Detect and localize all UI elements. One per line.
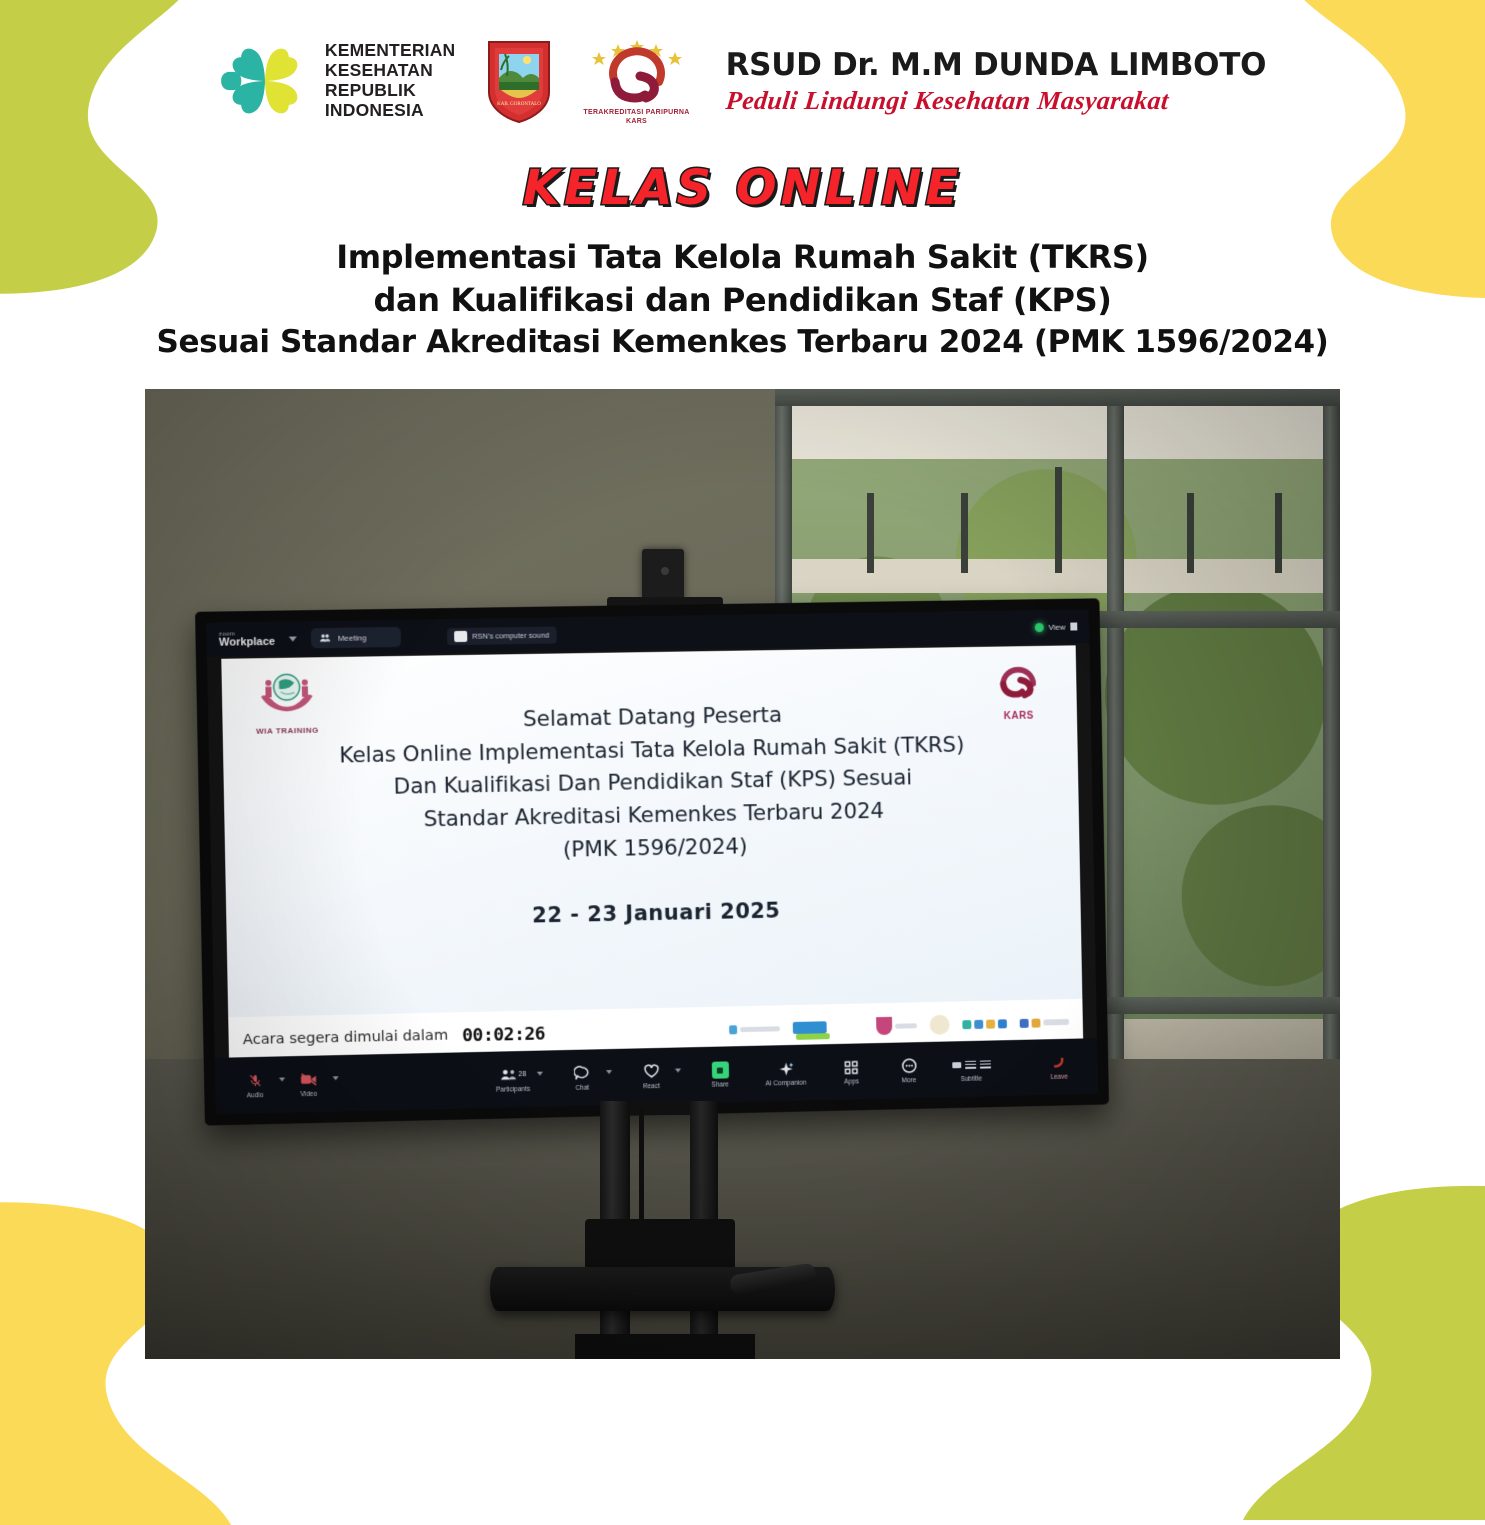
slide-kars-label: KARS [978,710,1059,722]
poster-subtitle: Implementasi Tata Kelola Rumah Sakit (TK… [0,236,1485,363]
zoom-ai-companion-label: AI Companion [765,1080,806,1088]
zoom-subtitle-label: Subtitle [961,1076,983,1083]
partner-logo-strip [729,1009,1069,1042]
zoom-meeting-label: Meeting [338,633,367,642]
zoom-participants-button[interactable]: 28 Participants [492,1065,535,1094]
zoom-more-label: More [902,1077,917,1084]
zoom-ai-companion-button[interactable]: AI Companion [757,1059,815,1088]
slide-event-date: 22 - 23 Januari 2025 [226,893,1081,934]
gorontalo-regency-seal: KAB. GORONTALO [483,38,555,124]
partner-logo-6 [1019,1009,1069,1036]
window-rail-top [775,389,1340,406]
zoom-brand-big: Workplace [219,637,275,649]
kemenkes-logo [219,39,311,123]
camera-icon [300,1070,318,1089]
kars-logo [585,36,689,108]
microphone-icon [248,1071,262,1090]
partner-logo-5 [962,1011,1007,1038]
tv-display: zoom Workplace Meeting RSN's computer so… [195,599,1109,1126]
wia-training-logo-block: WIA TRAINING [238,667,336,736]
zoom-participants-label: Participants [496,1086,530,1094]
zoom-chat-button[interactable]: Chat [561,1064,604,1093]
countdown-label: Acara segera dimulai dalam [243,1028,448,1049]
kemenkes-line3: REPUBLIK [325,81,456,101]
participants-caret-icon[interactable] [537,1072,543,1076]
screen-share-icon [454,631,467,642]
grid-view-icon [1070,623,1077,631]
kars-logo [990,656,1046,705]
window-grille-1 [867,493,874,573]
subtitle-icon [952,1055,991,1075]
participants-count: 28 [518,1071,526,1078]
people-icon [319,632,331,644]
zoom-audio-label: Audio [247,1092,264,1099]
toolbar-gap-left [341,1080,492,1083]
zoom-video-label: Video [300,1091,317,1098]
more-ellipsis-icon [900,1056,917,1075]
kars-accreditation-logo-block: TERAKREDITASI PARIPURNA KARS [583,36,689,127]
leave-meeting-icon [1051,1053,1067,1072]
hospital-tagline: Peduli Lindungi Kesehatan Masyarakat [724,86,1268,116]
partner-logo-2 [793,1014,864,1041]
heart-icon [642,1062,659,1081]
zoom-view-label: View [1048,622,1065,631]
kemenkes-logo-block: KEMENTERIAN KESEHATAN REPUBLIK INDONESIA [219,39,456,123]
apps-grid-icon [843,1058,859,1077]
partner-logo-1 [729,1016,780,1043]
poster-subtitle-line2: dan Kualifikasi dan Pendidikan Staf (KPS… [0,279,1485,322]
zoom-subtitle-button[interactable]: Subtitle [945,1055,997,1084]
slide-text-block: Selamat Datang Peserta Kelas Online Impl… [221,646,1081,935]
zoom-sound-label: RSN's computer sound [472,630,549,640]
window-grille-4 [1187,493,1194,573]
zoom-leave-button[interactable]: Leave [1038,1053,1080,1082]
zoom-chat-label: Chat [575,1085,589,1092]
toolbar-spacer [997,1068,1038,1069]
partner-logo-4 [930,1012,950,1038]
zoom-brand: zoom Workplace [219,631,275,649]
hospital-name: RSUD Dr. M.M DUNDA LIMBOTO [726,47,1267,83]
poster-subtitle-line1: Implementasi Tata Kelola Rumah Sakit (TK… [0,236,1485,279]
poster-subtitle-line3: Sesuai Standar Akreditasi Kemenkes Terba… [0,322,1485,364]
zoom-more-button[interactable]: More [888,1056,930,1085]
window-grille-5 [1275,493,1282,573]
kemenkes-logo-text: KEMENTERIAN KESEHATAN REPUBLIK INDONESIA [325,41,456,120]
zoom-view-control[interactable]: View [1035,622,1078,632]
window-grille-2 [961,493,968,573]
kars-caption-line1: TERAKREDITASI PARIPURNA [583,109,689,118]
zoom-share-label: Share [711,1082,728,1089]
react-caret-icon[interactable] [675,1069,681,1073]
chat-bubble-icon [574,1064,590,1083]
zoom-react-button[interactable]: React [630,1062,673,1091]
countdown-timer: 00:02:26 [462,1023,545,1046]
kemenkes-line2: KESEHATAN [325,61,456,81]
zoom-apps-button[interactable]: Apps [830,1057,872,1086]
poster-page: KEMENTERIAN KESEHATAN REPUBLIK INDONESIA… [0,0,1485,1485]
zoom-react-label: React [643,1083,660,1090]
kemenkes-line1: KEMENTERIAN [325,41,456,61]
kars-caption-line2: KARS [583,118,689,127]
partner-logo-3 [876,1013,917,1040]
shared-slide: WIA TRAINING KARS Selamat Datang Peserta… [221,646,1083,1064]
zoom-leave-label: Leave [1050,1074,1068,1081]
chat-caret-icon[interactable] [606,1070,612,1074]
recording-status-icon [1035,623,1044,632]
svg-text:KAB. GORONTALO: KAB. GORONTALO [498,102,542,107]
hospital-identity: RSUD Dr. M.M DUNDA LIMBOTO Peduli Lindun… [726,47,1267,116]
audio-options-caret-icon[interactable] [279,1078,285,1082]
zoom-audio-button[interactable]: Audio [233,1071,276,1100]
tv-stand-base [575,1334,755,1359]
kemenkes-line4: INDONESIA [325,101,456,121]
kars-caption: TERAKREDITASI PARIPURNA KARS [583,109,689,127]
participants-icon: 28 [499,1065,526,1085]
video-options-caret-icon[interactable] [333,1077,339,1081]
window-grille-3 [1055,467,1062,573]
zoom-share-button[interactable]: Share [699,1060,741,1089]
poster-header: KEMENTERIAN KESEHATAN REPUBLIK INDONESIA… [0,0,1485,116]
ai-sparkle-icon [777,1059,794,1078]
share-screen-icon [711,1061,728,1080]
zoom-video-button[interactable]: Video [287,1070,330,1099]
zoom-meeting-tab[interactable]: Meeting [311,627,401,648]
event-photo: zoom Workplace Meeting RSN's computer so… [145,389,1340,1359]
slide-kars-logo-block: KARS [977,656,1059,723]
zoom-computer-sound-indicator[interactable]: RSN's computer sound [447,626,557,645]
zoom-apps-label: Apps [844,1079,859,1086]
poster-banner-title: KELAS ONLINE [0,160,1485,216]
tv-stand-equipment [585,1219,735,1274]
chevron-down-icon[interactable] [289,636,297,641]
wia-training-logo [256,668,318,721]
conference-camera [642,549,684,601]
